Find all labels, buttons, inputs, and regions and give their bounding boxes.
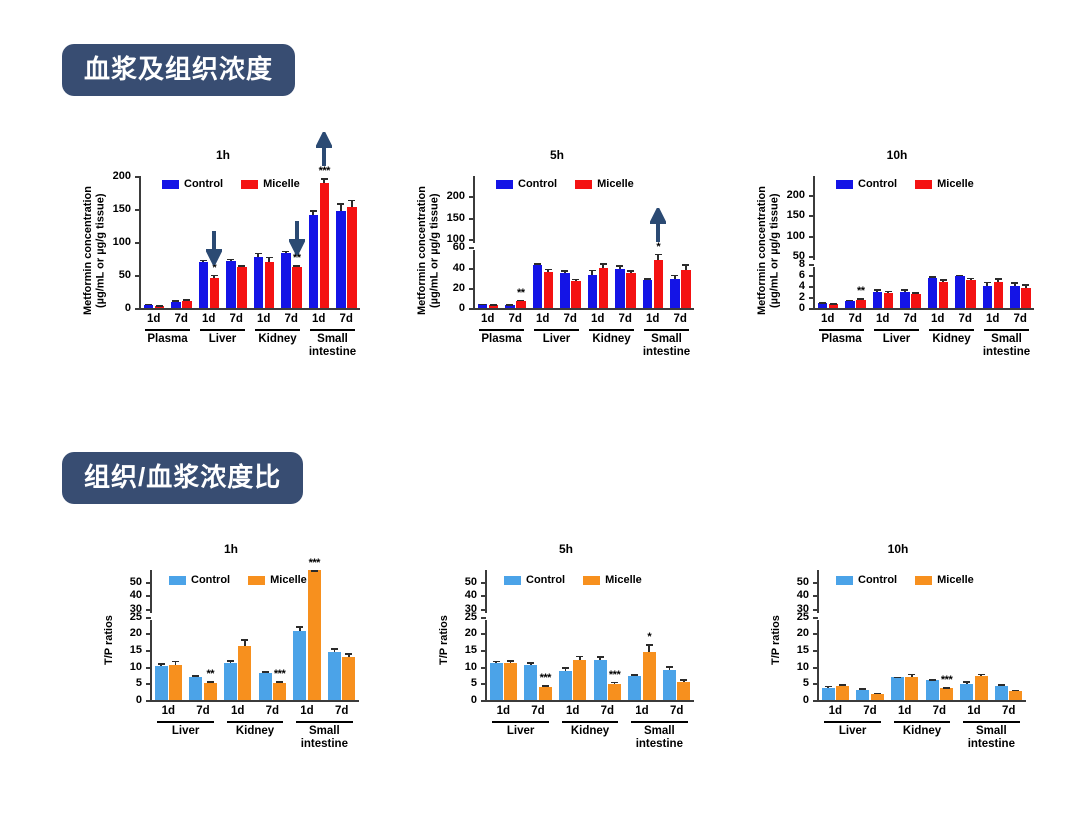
- group-label: Liver: [839, 725, 867, 738]
- chart-title: 10h: [762, 542, 1034, 556]
- error-bar-cap: [885, 291, 892, 293]
- y-tick-label: 2: [799, 291, 805, 303]
- significance-marker: *: [647, 632, 651, 643]
- x-tick-label: 1d: [591, 313, 604, 325]
- annotation-arrow-down: [206, 231, 222, 270]
- legend-item-control: Control: [836, 574, 897, 586]
- y-axis-label: Metformin concentration (µg/mL or µg/g t…: [416, 180, 441, 322]
- error-bar-cap: [479, 304, 486, 306]
- y-tick: [813, 683, 818, 685]
- bar: [210, 278, 220, 308]
- bar: [292, 267, 302, 308]
- legend-item-control: Control: [169, 574, 230, 586]
- y-tick: [146, 617, 151, 619]
- y-tick: [469, 268, 474, 270]
- y-tick-label: 20: [453, 282, 465, 294]
- x-tick-label: 7d: [285, 313, 298, 325]
- error-bar-cap: [172, 300, 179, 302]
- y-tick: [481, 650, 486, 652]
- y-tick: [469, 196, 474, 198]
- legend-swatch-control: [169, 576, 186, 585]
- group-underline: [589, 329, 634, 331]
- legend-item-micelle: Micelle: [915, 574, 974, 586]
- error-bar-cap: [493, 661, 500, 663]
- group-label: Small intestine: [301, 725, 348, 751]
- group-label: Kidney: [571, 725, 609, 738]
- group-underline: [200, 329, 245, 331]
- error-bar-cap: [238, 265, 245, 267]
- y-tick: [809, 195, 814, 197]
- y-tick: [146, 609, 151, 611]
- group-label: Liver: [543, 333, 571, 346]
- legend-swatch-micelle: [248, 576, 265, 585]
- significance-marker: ***: [540, 673, 551, 684]
- error-bar-cap: [572, 279, 579, 281]
- error-bar-cap: [562, 667, 569, 669]
- y-tick-label: 40: [453, 262, 465, 274]
- legend: ControlMicelle: [836, 574, 986, 586]
- y-tick: [146, 667, 151, 669]
- y-tick-label: 20: [465, 627, 477, 639]
- bar: [873, 292, 883, 308]
- bar: [939, 282, 949, 308]
- chart-concentration-10h: 10h0246850100150200**Metformin concentra…: [752, 148, 1042, 378]
- error-bar-cap: [908, 674, 915, 676]
- error-bar-cap: [995, 278, 1002, 280]
- error-bar-cap: [183, 299, 190, 301]
- group-underline: [255, 329, 300, 331]
- bar: [677, 682, 690, 700]
- legend-swatch-control: [504, 576, 521, 585]
- error-bar-cap: [616, 265, 623, 267]
- bar: [670, 279, 680, 308]
- y-tick: [146, 595, 151, 597]
- legend-item-control: Control: [162, 178, 223, 190]
- group-label: Plasma: [481, 333, 521, 346]
- error-bar-cap: [145, 304, 152, 306]
- y-tick: [813, 633, 818, 635]
- legend-item-micelle: Micelle: [241, 178, 300, 190]
- bar: [608, 684, 621, 700]
- y-tick: [481, 667, 486, 669]
- error-bar-cap: [929, 276, 936, 278]
- y-axis-label: T/P ratios: [103, 590, 116, 690]
- x-tick-label: 1d: [931, 313, 944, 325]
- x-tick-label: 1d: [312, 313, 325, 325]
- bar: [539, 687, 552, 700]
- x-tick-label: 7d: [564, 313, 577, 325]
- y-tick: [481, 617, 486, 619]
- error-bar-cap: [956, 275, 963, 277]
- x-axis: [818, 700, 1026, 702]
- error-bar-cap: [825, 686, 832, 688]
- error-bar-cap: [589, 270, 596, 272]
- bar: [626, 273, 636, 308]
- plot-area: 0204060100150200***: [474, 176, 694, 308]
- x-axis: [486, 700, 694, 702]
- bar: [960, 684, 973, 700]
- error-bar-cap: [978, 674, 985, 676]
- bar: [955, 276, 965, 308]
- group-underline: [631, 721, 688, 723]
- y-tick: [146, 633, 151, 635]
- x-tick-label: 7d: [619, 313, 632, 325]
- error-bar-cap: [819, 302, 826, 304]
- bar: [504, 663, 517, 700]
- group-label: Kidney: [903, 725, 941, 738]
- bar: [336, 211, 346, 308]
- significance-marker: ***: [609, 670, 620, 681]
- bar: [663, 670, 676, 700]
- error-bar-cap: [680, 679, 687, 681]
- y-tick-label: 50: [465, 576, 477, 588]
- significance-marker: ***: [941, 675, 952, 686]
- section-badge-concentration: 血浆及组织浓度: [62, 44, 295, 96]
- x-tick-label: 7d: [1002, 705, 1015, 717]
- y-tick: [809, 215, 814, 217]
- group-label: Plasma: [821, 333, 861, 346]
- error-bar-cap: [192, 675, 199, 677]
- legend: ControlMicelle: [162, 178, 312, 190]
- error-bar-cap: [227, 259, 234, 261]
- annotation-arrow-up: [650, 208, 666, 247]
- y-tick-label: 20: [130, 627, 142, 639]
- bar: [560, 273, 570, 308]
- error-bar-cap: [227, 660, 234, 662]
- bar: [155, 666, 168, 700]
- y-tick: [135, 176, 140, 178]
- y-tick-label: 15: [130, 644, 142, 656]
- legend-item-micelle: Micelle: [583, 574, 642, 586]
- y-tick-label: 40: [130, 589, 142, 601]
- error-bar-cap: [646, 644, 653, 646]
- x-tick-label: 7d: [531, 705, 544, 717]
- bar: [226, 261, 236, 308]
- bar: [1009, 691, 1022, 700]
- bar: [643, 652, 656, 700]
- error-bar-cap: [846, 300, 853, 302]
- x-tick-label: 7d: [509, 313, 522, 325]
- y-tick-label: 40: [465, 589, 477, 601]
- y-tick-label: 20: [797, 627, 809, 639]
- error-bar-cap: [940, 279, 947, 281]
- error-bar-cap: [874, 693, 881, 695]
- error-bar-cap: [534, 263, 541, 265]
- error-bar-cap: [597, 656, 604, 658]
- y-tick-label: 5: [471, 677, 477, 689]
- error-bar-cap: [211, 275, 218, 277]
- x-tick-label: 1d: [162, 705, 175, 717]
- legend-label-micelle: Micelle: [270, 574, 307, 586]
- bar: [293, 631, 306, 700]
- y-tick: [481, 633, 486, 635]
- y-tick-label: 0: [136, 694, 142, 706]
- y-tick: [469, 218, 474, 220]
- x-tick-label: 1d: [829, 705, 842, 717]
- bar: [182, 301, 192, 308]
- y-tick-label: 10: [797, 661, 809, 673]
- y-tick-label: 100: [113, 236, 131, 248]
- error-bar-cap: [943, 687, 950, 689]
- y-tick-label: 10: [465, 661, 477, 673]
- y-tick: [813, 582, 818, 584]
- bar: [320, 183, 330, 308]
- y-tick-label: 6: [799, 269, 805, 281]
- group-label: Liver: [507, 725, 535, 738]
- bar: [856, 690, 869, 700]
- y-tick: [809, 286, 814, 288]
- bar: [281, 253, 291, 308]
- y-tick-label: 0: [799, 302, 805, 314]
- chart-title: 10h: [752, 148, 1042, 162]
- y-tick: [813, 650, 818, 652]
- bar: [347, 207, 357, 308]
- y-tick: [135, 308, 140, 310]
- error-bar-cap: [293, 265, 300, 267]
- y-tick-label: 40: [797, 589, 809, 601]
- bar: [342, 657, 355, 700]
- chart-title: 1h: [95, 542, 367, 556]
- error-bar-cap: [600, 263, 607, 265]
- group-underline: [534, 329, 579, 331]
- bar: [571, 281, 581, 308]
- y-tick-label: 50: [130, 576, 142, 588]
- y-axis-label: T/P ratios: [770, 590, 783, 690]
- bar: [599, 268, 609, 308]
- group-underline: [310, 329, 355, 331]
- bar: [224, 663, 237, 700]
- group-label: Plasma: [147, 333, 187, 346]
- x-tick-label: 1d: [876, 313, 889, 325]
- y-tick-label: 50: [797, 576, 809, 588]
- x-tick-label: 1d: [536, 313, 549, 325]
- bar: [654, 260, 664, 308]
- y-tick: [481, 609, 486, 611]
- legend-label-micelle: Micelle: [263, 178, 300, 190]
- error-bar-cap: [998, 684, 1005, 686]
- error-bar-cap: [348, 200, 355, 202]
- y-tick: [481, 700, 486, 702]
- group-label: Kidney: [258, 333, 296, 346]
- group-underline: [819, 329, 864, 331]
- bar: [994, 282, 1004, 308]
- legend: ControlMicelle: [496, 178, 646, 190]
- bar: [309, 215, 319, 308]
- error-bar-cap: [666, 666, 673, 668]
- bar: [836, 686, 849, 700]
- y-tick-label: 50: [793, 250, 805, 262]
- x-tick-label: 7d: [266, 705, 279, 717]
- bar: [328, 652, 341, 700]
- legend-label-micelle: Micelle: [937, 574, 974, 586]
- bar: [559, 671, 572, 700]
- y-tick: [809, 236, 814, 238]
- group-underline: [894, 721, 951, 723]
- y-tick: [146, 700, 151, 702]
- error-bar-cap: [296, 626, 303, 628]
- bar: [966, 280, 976, 308]
- group-underline: [227, 721, 284, 723]
- y-tick-label: 0: [459, 302, 465, 314]
- y-tick: [135, 209, 140, 211]
- group-label: Kidney: [932, 333, 970, 346]
- error-bar-cap: [241, 639, 248, 641]
- legend-swatch-control: [836, 576, 853, 585]
- x-axis: [474, 308, 694, 310]
- y-tick-label: 0: [125, 302, 131, 314]
- legend-swatch-micelle: [575, 180, 592, 189]
- plot-area: 0246850100150200**: [814, 176, 1034, 308]
- group-label: Liver: [209, 333, 237, 346]
- y-tick-label: 0: [803, 694, 809, 706]
- legend-label-control: Control: [858, 574, 897, 586]
- chart-concentration-5h: 5h0204060100150200***Metformin concentra…: [412, 148, 702, 378]
- error-bar-cap: [561, 270, 568, 272]
- error-bar-cap: [874, 289, 881, 291]
- error-bar-cap: [984, 282, 991, 284]
- bar: [237, 267, 247, 308]
- legend-swatch-micelle: [915, 180, 932, 189]
- bar: [975, 676, 988, 700]
- significance-marker: **: [517, 288, 525, 299]
- legend-swatch-control: [162, 180, 179, 189]
- group-label: Liver: [172, 725, 200, 738]
- error-bar-cap: [901, 289, 908, 291]
- y-tick: [813, 617, 818, 619]
- error-bar-cap: [507, 660, 514, 662]
- bar: [573, 660, 586, 700]
- x-tick-label: 1d: [231, 705, 244, 717]
- bar: [265, 262, 275, 308]
- legend: ControlMicelle: [836, 178, 986, 190]
- bar: [615, 269, 625, 308]
- y-tick-label: 10: [130, 661, 142, 673]
- group-label: Smallintestine: [643, 333, 690, 359]
- bar: [829, 304, 839, 308]
- y-tick: [135, 275, 140, 277]
- y-tick-label: 100: [787, 230, 805, 242]
- y-tick-label: 4: [799, 280, 805, 292]
- group-underline: [157, 721, 214, 723]
- error-bar-cap: [682, 264, 689, 266]
- error-bar-cap: [337, 203, 344, 205]
- plot-area: 050100150200******: [140, 176, 360, 308]
- bar: [254, 257, 264, 308]
- bar: [533, 265, 543, 308]
- x-tick-label: 1d: [821, 313, 834, 325]
- y-tick-label: 30: [797, 603, 809, 615]
- error-bar-cap: [517, 300, 524, 302]
- group-underline: [963, 721, 1020, 723]
- bar: [259, 673, 272, 700]
- y-tick: [146, 683, 151, 685]
- y-tick: [809, 264, 814, 266]
- legend-swatch-control: [836, 180, 853, 189]
- plot-area: 0510152025304050***: [818, 570, 1026, 700]
- group-underline: [874, 329, 919, 331]
- group-label: Kidney: [236, 725, 274, 738]
- legend-label-control: Control: [191, 574, 230, 586]
- error-bar-cap: [276, 681, 283, 683]
- error-bar-cap: [207, 681, 214, 683]
- bar: [995, 686, 1008, 700]
- error-bar-cap: [1022, 284, 1029, 286]
- bar: [204, 683, 217, 700]
- y-tick-label: 30: [130, 603, 142, 615]
- group-underline: [492, 721, 549, 723]
- y-tick-label: 15: [797, 644, 809, 656]
- y-tick: [481, 582, 486, 584]
- error-bar-cap: [839, 684, 846, 686]
- bar: [628, 676, 641, 700]
- y-tick: [813, 667, 818, 669]
- x-tick-label: 7d: [601, 705, 614, 717]
- x-tick-label: 7d: [863, 705, 876, 717]
- error-bar-cap: [912, 292, 919, 294]
- y-tick: [813, 595, 818, 597]
- legend-label-control: Control: [858, 178, 897, 190]
- group-underline: [562, 721, 619, 723]
- legend-label-micelle: Micelle: [597, 178, 634, 190]
- y-axis-label: Metformin concentration (µg/mL or µg/g t…: [82, 180, 107, 322]
- y-tick: [135, 242, 140, 244]
- x-tick-label: 1d: [986, 313, 999, 325]
- bar: [189, 677, 202, 700]
- error-bar-cap: [156, 305, 163, 307]
- y-tick: [469, 239, 474, 241]
- error-bar-cap: [1012, 690, 1019, 692]
- x-tick-label: 7d: [230, 313, 243, 325]
- legend-swatch-micelle: [583, 576, 600, 585]
- x-tick-label: 7d: [904, 313, 917, 325]
- x-tick-label: 7d: [335, 705, 348, 717]
- group-underline: [479, 329, 524, 331]
- y-tick: [809, 297, 814, 299]
- x-tick-label: 1d: [898, 705, 911, 717]
- chart-concentration-1h: 1h050100150200******Metformin concentrat…: [78, 148, 368, 378]
- error-bar-cap: [545, 269, 552, 271]
- group-label: Small intestine: [968, 725, 1015, 751]
- x-tick-label: 1d: [566, 705, 579, 717]
- legend-label-micelle: Micelle: [605, 574, 642, 586]
- error-bar-cap: [655, 254, 662, 256]
- x-axis: [151, 700, 359, 702]
- bar: [308, 570, 321, 700]
- bar: [169, 665, 182, 700]
- y-tick-label: 150: [447, 212, 465, 224]
- y-tick: [146, 582, 151, 584]
- x-tick-label: 7d: [196, 705, 209, 717]
- error-bar-cap: [644, 278, 651, 280]
- y-tick: [481, 683, 486, 685]
- bar: [594, 660, 607, 700]
- bar: [544, 272, 554, 308]
- legend: ControlMicelle: [169, 574, 319, 586]
- error-bar-cap: [627, 270, 634, 272]
- bar: [891, 677, 904, 700]
- legend-item-control: Control: [496, 178, 557, 190]
- x-tick-label: 7d: [670, 705, 683, 717]
- error-bar-cap: [527, 662, 534, 664]
- y-axis-label: T/P ratios: [438, 590, 451, 690]
- error-bar-cap: [310, 210, 317, 212]
- bar: [905, 677, 918, 700]
- error-bar-cap: [506, 304, 513, 306]
- group-underline: [145, 329, 190, 331]
- error-bar-cap: [331, 648, 338, 650]
- plot-area: 0510152025304050********: [151, 570, 359, 700]
- bar: [273, 683, 286, 700]
